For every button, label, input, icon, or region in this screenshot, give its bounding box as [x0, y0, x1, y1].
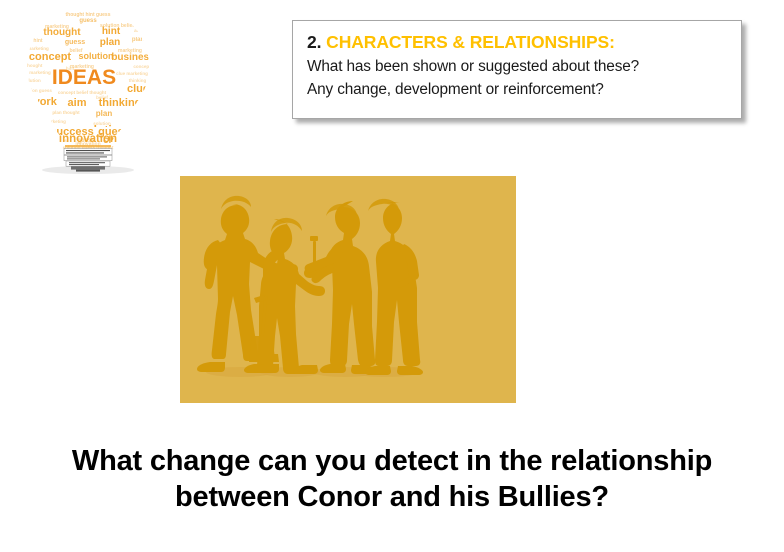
ideas-lightbulb-word-cloud-icon: thought hint guess guess marketing solut…	[14, 2, 162, 174]
svg-text:plan: plan	[132, 37, 145, 43]
svg-text:thought: thought	[43, 27, 81, 38]
slide-canvas: thought hint guess guess marketing solut…	[0, 0, 784, 552]
svg-text:hint: hint	[38, 110, 47, 115]
svg-text:thought: thought	[26, 63, 43, 68]
prompt-title: CHARACTERS & RELATIONSHIPS:	[326, 32, 615, 52]
svg-text:plan thought: plan thought	[52, 110, 80, 115]
slide-caption: What change can you detect in the relati…	[0, 443, 784, 515]
svg-text:guess: guess	[129, 113, 147, 119]
svg-text:plan: plan	[96, 109, 113, 118]
svg-text:clue marketing: clue marketing	[116, 71, 148, 76]
prompt-line-2: Any change, development or reinforcement…	[307, 78, 729, 101]
prompt-text-box: 2. CHARACTERS & RELATIONSHIPS: What has …	[292, 20, 742, 119]
svg-text:IDEAS: IDEAS	[52, 66, 116, 89]
prompt-line-1: What has been shown or suggested about t…	[307, 55, 729, 78]
svg-text:aim: aim	[134, 28, 142, 33]
prompt-number: 2.	[307, 32, 321, 52]
svg-text:solution: solution	[79, 51, 114, 61]
svg-text:belief: belief	[96, 95, 108, 100]
svg-text:clue marketing: clue marketing	[34, 119, 66, 124]
svg-text:guess: guess	[65, 39, 85, 46]
svg-text:solution: solution	[23, 78, 41, 83]
svg-text:innovation: innovation	[59, 133, 117, 145]
svg-text:concept: concept	[29, 51, 72, 63]
svg-text:hint: hint	[33, 38, 42, 44]
svg-text:marketing: marketing	[29, 70, 51, 75]
svg-text:solution guess: solution guess	[20, 88, 52, 93]
svg-text:hint: hint	[102, 26, 121, 37]
svg-text:hint: hint	[133, 128, 144, 134]
svg-text:aim: aim	[68, 97, 87, 109]
svg-text:plan: plan	[100, 37, 121, 48]
prompt-heading: 2. CHARACTERS & RELATIONSHIPS:	[307, 30, 729, 55]
svg-text:work: work	[30, 96, 58, 108]
caption-line-2: between Conor and his Bullies?	[0, 479, 784, 515]
svg-text:guess: guess	[79, 18, 97, 24]
svg-text:business: business	[111, 52, 155, 63]
svg-text:clue: clue	[127, 83, 149, 95]
svg-text:concept: concept	[133, 64, 151, 69]
bullying-silhouette-illustration	[180, 176, 516, 403]
svg-text:hint: hint	[66, 66, 75, 71]
caption-line-1: What change can you detect in the relati…	[0, 443, 784, 479]
